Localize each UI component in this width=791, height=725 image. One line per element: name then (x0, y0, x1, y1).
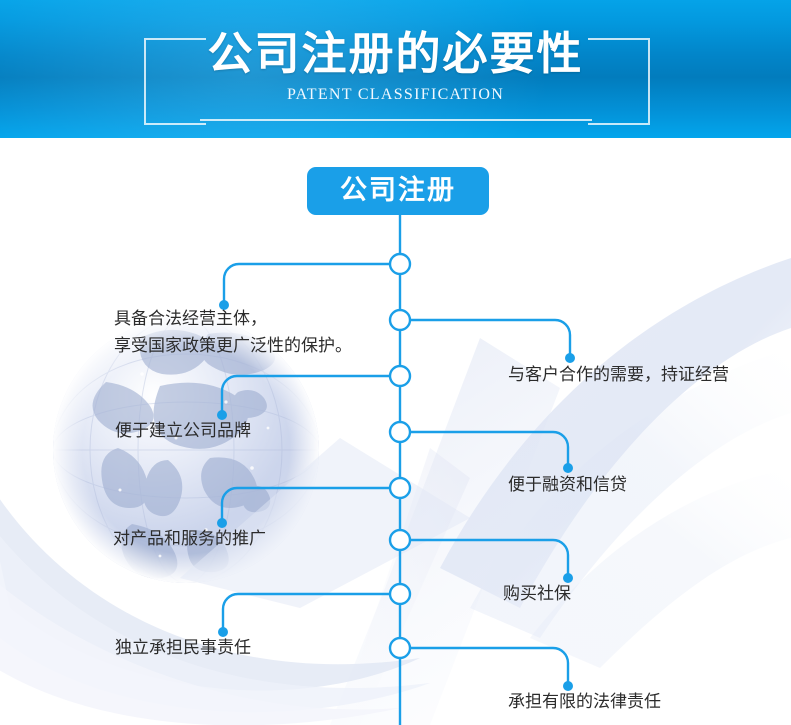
spine-node-2 (390, 310, 410, 330)
branch-label-left-1: 具备合法经营主体， 享受国家政策更广泛性的保护。 (114, 306, 352, 360)
connector-left-3 (222, 488, 390, 523)
branch-label-right-4: 承担有限的法律责任 (508, 689, 661, 716)
spine-node-3 (390, 366, 410, 386)
header-banner: 公司注册的必要性 PATENT CLASSIFICATION (0, 0, 791, 138)
branch-label-right-3: 购买社保 (503, 581, 571, 608)
connector-right-4 (410, 648, 568, 686)
connector-right-3 (410, 540, 568, 578)
page-root: 公司注册的必要性 PATENT CLASSIFICATION (0, 0, 791, 725)
connector-left-4 (223, 594, 390, 632)
spine-node-8 (390, 638, 410, 658)
page-subtitle: PATENT CLASSIFICATION (0, 86, 791, 104)
spine-node-1 (390, 254, 410, 274)
page-title: 公司注册的必要性 (0, 25, 791, 83)
header-frame-bottom-rule (200, 119, 592, 121)
connector-left-1 (224, 264, 390, 305)
spine-node-6 (390, 530, 410, 550)
branch-label-right-2: 便于融资和信贷 (508, 472, 627, 499)
spine-node-7 (390, 584, 410, 604)
spine-node-4 (390, 422, 410, 442)
connector-left-2 (222, 376, 390, 415)
spine-node-5 (390, 478, 410, 498)
branch-label-left-2: 便于建立公司品牌 (115, 418, 251, 445)
branch-label-right-1: 与客户合作的需要，持证经营 (508, 362, 729, 389)
mindmap-diagram: 公司注册 (0, 138, 791, 725)
branch-label-left-4: 独立承担民事责任 (115, 635, 251, 662)
connector-right-2 (410, 432, 568, 468)
connector-right-1 (410, 320, 570, 358)
branch-label-left-3: 对产品和服务的推广 (113, 526, 266, 553)
